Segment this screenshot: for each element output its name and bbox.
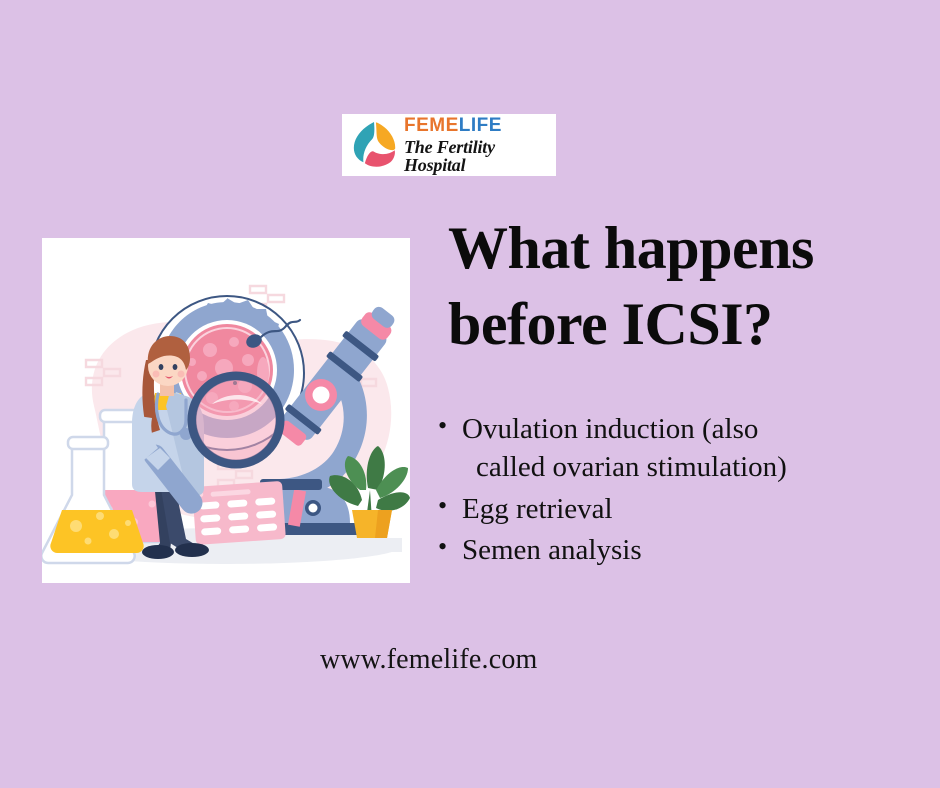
doctor-shoe-right (175, 543, 209, 557)
list-item: Ovulation induction (also called ovarian… (436, 410, 851, 487)
page-title-line-1: What happens (448, 214, 918, 282)
brand-logo: FEMELIFE The Fertility Hospital (342, 114, 556, 176)
logo-brand-feme: FEME (404, 115, 459, 136)
magnifier-lens (196, 380, 276, 460)
femelife-logo-mark (350, 120, 398, 170)
poster-canvas: FEMELIFE The Fertility Hospital (0, 0, 940, 788)
list-item-line-1: Egg retrieval (462, 493, 613, 525)
page-title-line-2: before ICSI? (448, 290, 918, 358)
doctor-blush-right (178, 371, 185, 378)
microscope-focus-knob-center (309, 504, 318, 513)
doctor-shoe-left (142, 545, 174, 559)
website-url: www.femelife.com (320, 644, 538, 676)
pill-blister-pack (192, 481, 286, 545)
logo-tagline: The Fertility Hospital (404, 138, 556, 174)
list-item-line-1: Semen analysis (462, 534, 642, 566)
page-title: What happens before ICSI? (448, 214, 918, 359)
steps-list: Ovulation induction (also called ovarian… (436, 410, 851, 572)
doctor-eye-right (173, 364, 178, 370)
list-item: Egg retrieval (436, 490, 851, 528)
illustration-card (42, 238, 410, 583)
logo-brand-line: FEMELIFE (404, 116, 556, 135)
doctor-eye-left (159, 364, 164, 370)
pill-capsules (199, 497, 277, 535)
doctor-blush-left (153, 371, 160, 378)
logo-brand-life: LIFE (459, 115, 502, 136)
list-item-line-2: called ovarian stimulation) (462, 448, 851, 486)
microscope-objective-center (313, 387, 330, 404)
flask-yellow-neck-rim (68, 437, 108, 449)
fertility-lab-illustration (42, 238, 410, 583)
list-item-line-1: Ovulation induction (also (462, 413, 758, 445)
logo-wordmark: FEMELIFE The Fertility Hospital (404, 116, 556, 174)
list-item: Semen analysis (436, 531, 851, 569)
